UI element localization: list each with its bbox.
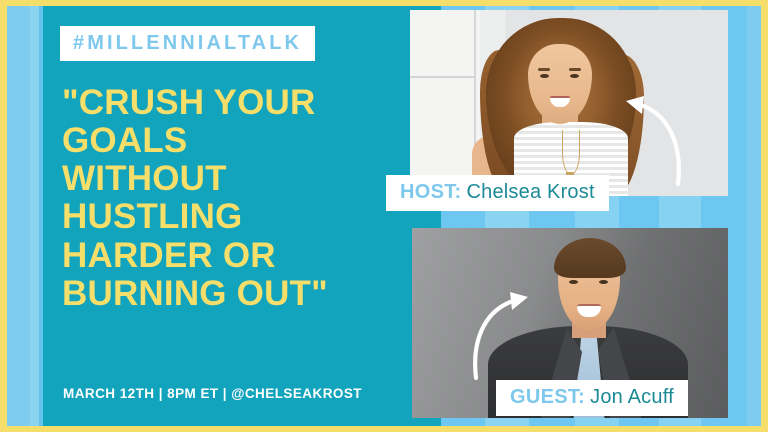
headline-line-4: HUSTLING: [62, 198, 402, 236]
event-details: MARCH 12TH | 8PM ET | @CHELSEAKROST: [63, 386, 362, 401]
host-backdrop-line-horizontal: [410, 76, 476, 78]
host-eye-right: [570, 74, 579, 78]
host-role-label: HOST:: [400, 181, 462, 203]
host-eye-left: [540, 74, 549, 78]
guest-eye-right: [599, 280, 608, 284]
headline: "CRUSH YOUR GOALS WITHOUT HUSTLING HARDE…: [62, 84, 402, 313]
host-nameplate: HOST:Chelsea Krost: [386, 175, 609, 211]
headline-line-1: "CRUSH YOUR: [62, 84, 402, 122]
guest-eye-left: [569, 280, 578, 284]
hashtag-text: #MILLENNIALTALK: [73, 33, 302, 53]
headline-line-6: BURNING OUT": [62, 275, 402, 313]
headline-line-3: WITHOUT: [62, 160, 402, 198]
background-stripe-left-1: [7, 6, 30, 426]
background-stripe-left-2: [30, 6, 39, 426]
headline-line-5: HARDER OR: [62, 237, 402, 275]
promo-poster: HOST:Chelsea Krost GUEST:Jon Acuff #MILL…: [0, 0, 768, 432]
host-name: Chelsea Krost: [467, 181, 595, 203]
host-necklace: [562, 130, 580, 175]
host-eyebrow-left: [538, 68, 550, 71]
background-stripe-right-1: [747, 6, 761, 426]
guest-role-label: GUEST:: [510, 386, 585, 408]
left-text-column: #MILLENNIALTALK "CRUSH YOUR GOALS WITHOU…: [60, 0, 400, 432]
host-smile: [550, 96, 570, 107]
guest-nameplate: GUEST:Jon Acuff: [496, 380, 688, 416]
guest-name: Jon Acuff: [590, 386, 674, 408]
hashtag-badge: #MILLENNIALTALK: [60, 26, 315, 61]
host-eyebrow-right: [569, 68, 581, 71]
headline-line-2: GOALS: [62, 122, 402, 160]
guest-smile: [577, 304, 601, 317]
host-photo: [410, 10, 728, 196]
